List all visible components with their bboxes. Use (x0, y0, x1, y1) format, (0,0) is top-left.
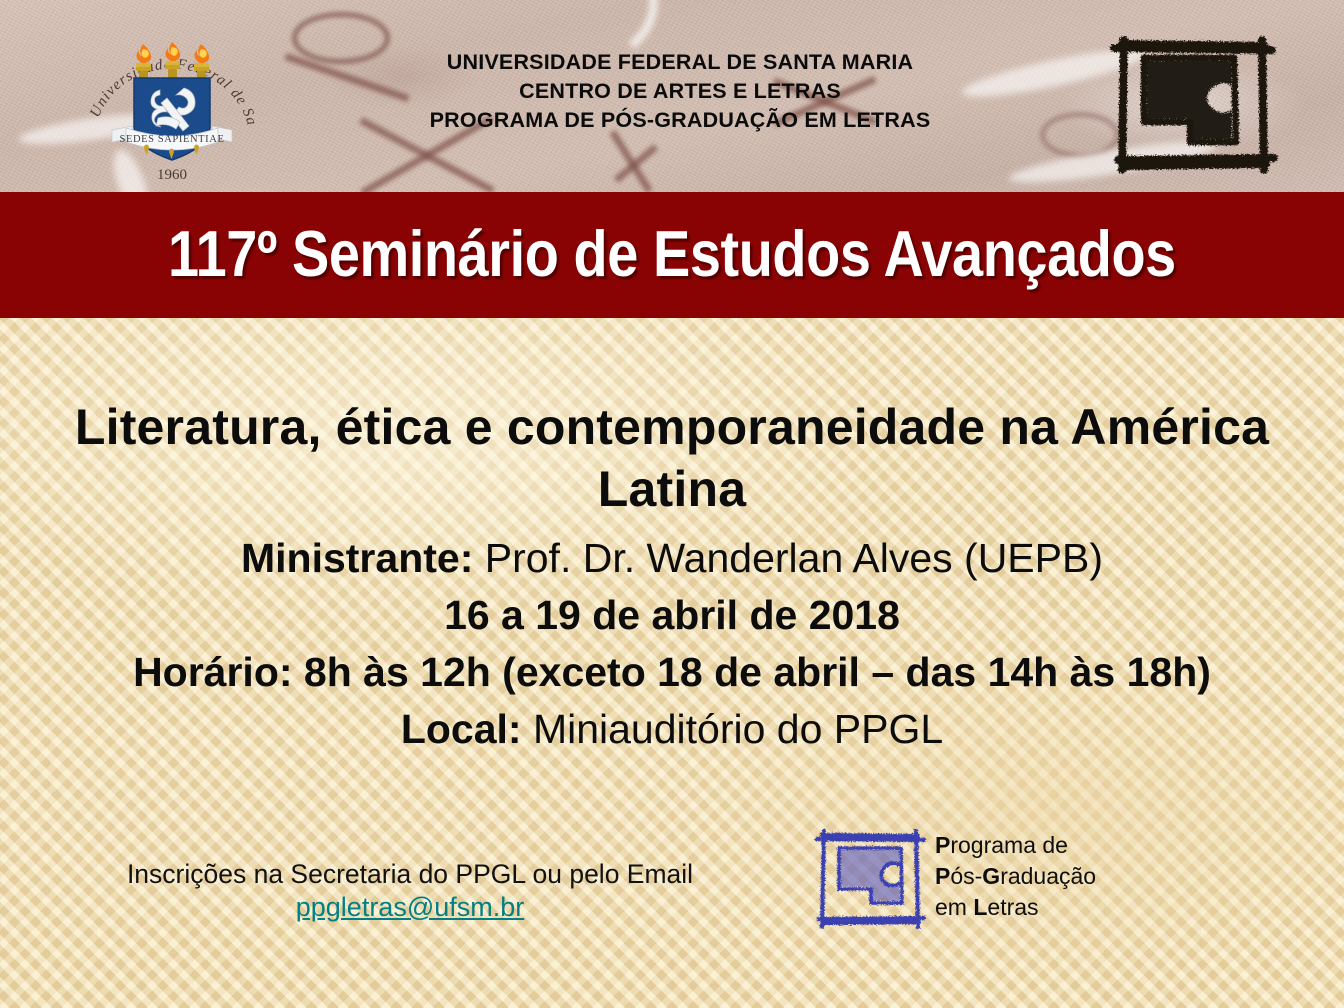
program-line-2-bold2: G (982, 863, 1000, 889)
program-line-3-rest: etras (987, 894, 1038, 920)
detail-line-dates: 16 a 19 de abril de 2018 (36, 587, 1308, 644)
body-content: Literatura, ética e contemporaneidade na… (0, 318, 1344, 1008)
svg-text:SEDES SAPIENTIAE: SEDES SAPIENTIAE (120, 134, 225, 145)
seminar-title: 117º Seminário de Estudos Avançados (168, 221, 1176, 286)
program-line-3-pre: em (935, 894, 973, 920)
ppgl-logo-icon (1104, 28, 1282, 183)
program-line-2-rest: ós- (950, 863, 982, 889)
detail-line-schedule: Horário: 8h às 12h (exceto 18 de abril –… (36, 644, 1308, 701)
poster-root: Universidade Federal de Santa Maria (0, 0, 1344, 1008)
institution-line-3: PROGRAMA DE PÓS-GRADUAÇÃO EM LETRAS (330, 106, 1030, 135)
location-value: Miniauditório do PPGL (522, 706, 944, 752)
program-line-1: Programa de (935, 830, 1096, 861)
svg-text:1960: 1960 (157, 167, 187, 183)
talk-details: Ministrante: Prof. Dr. Wanderlan Alves (… (36, 530, 1308, 758)
ufsm-crest: Universidade Federal de Santa Maria (72, 22, 272, 187)
program-line-3-bold: L (973, 894, 987, 920)
ppgl-logo-blue-icon (810, 823, 930, 938)
program-line-2-bold: P (935, 863, 950, 889)
email-link[interactable]: ppgletras@ufsm.br (296, 892, 525, 922)
program-line-3: em Letras (935, 892, 1096, 923)
seminar-title-band: 117º Seminário de Estudos Avançados (0, 192, 1344, 318)
program-line-2-rest2: raduação (1000, 863, 1096, 889)
ppgl-program-text: Programa de Pós-Graduação em Letras (935, 830, 1096, 923)
institution-line-1: UNIVERSIDADE FEDERAL DE SANTA MARIA (330, 48, 1030, 77)
detail-line-speaker: Ministrante: Prof. Dr. Wanderlan Alves (… (36, 530, 1308, 587)
speaker-label: Ministrante: (241, 535, 473, 581)
program-line-2: Pós-Graduação (935, 861, 1096, 892)
institution-line-2: CENTRO DE ARTES E LETRAS (330, 77, 1030, 106)
location-label: Local: (401, 706, 522, 752)
registration-text: Inscrições na Secretaria do PPGL ou pelo… (60, 858, 760, 891)
institution-heading: UNIVERSIDADE FEDERAL DE SANTA MARIA CENT… (330, 48, 1030, 135)
registration-note: Inscrições na Secretaria do PPGL ou pelo… (60, 858, 760, 924)
talk-title: Literatura, ética e contemporaneidade na… (36, 396, 1308, 520)
detail-line-location: Local: Miniauditório do PPGL (36, 701, 1308, 758)
program-line-1-rest: rograma de (950, 832, 1068, 858)
program-line-1-bold: P (935, 832, 950, 858)
speaker-value: Prof. Dr. Wanderlan Alves (UEPB) (473, 535, 1103, 581)
header-band: Universidade Federal de Santa Maria (0, 0, 1344, 192)
poster-body: Literatura, ética e contemporaneidade na… (0, 318, 1344, 1008)
